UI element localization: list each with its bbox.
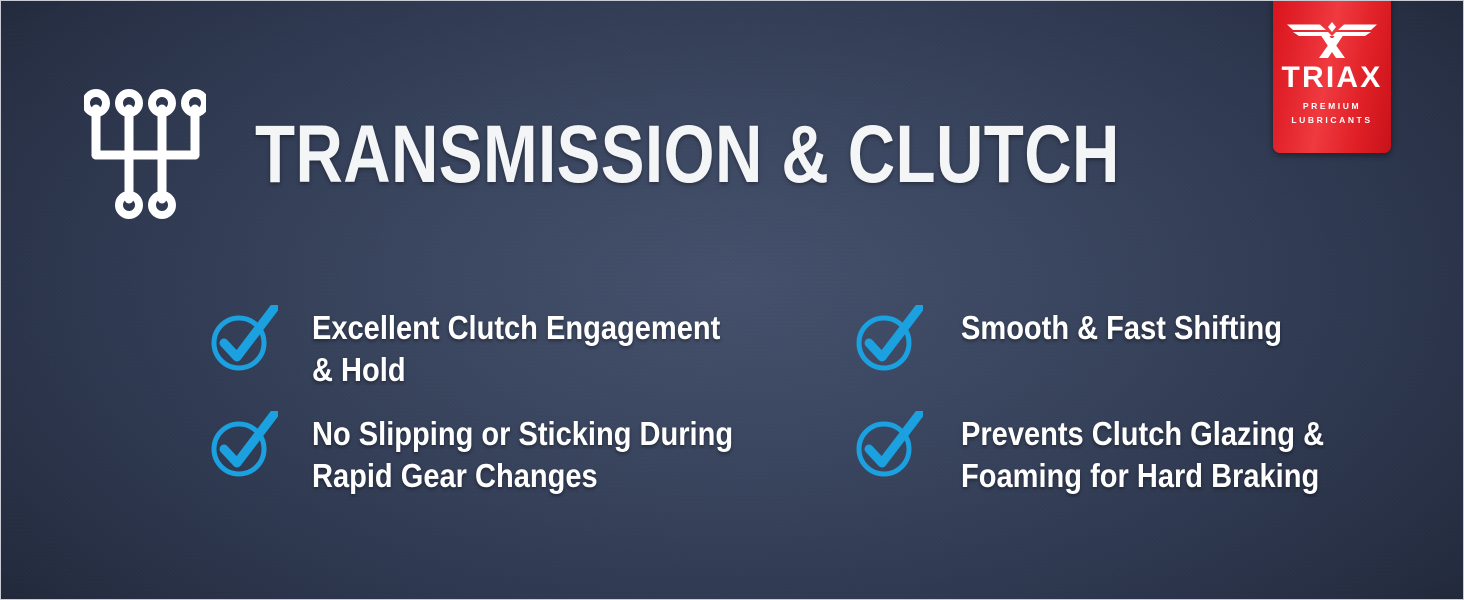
check-circle-icon [208,411,278,479]
banner-content: TRIAX PREMIUM LUBRICANTS [1,1,1463,599]
feature-item-no-slipping-or-sticking: No Slipping or Sticking During Rapid Gea… [208,409,808,497]
feature-item-excellent-clutch-engagement: Excellent Clutch Engagement & Hold [208,303,808,391]
check-circle-icon [208,305,278,373]
feature-label: No Slipping or Sticking During Rapid Gea… [312,409,748,497]
logo-tagline-premium: PREMIUM [1303,102,1361,111]
check-circle-icon [853,305,923,373]
page-title: TRANSMISSION & CLUTCH [255,114,1120,196]
transmission-clutch-banner: TRIAX PREMIUM LUBRICANTS [0,0,1464,600]
feature-item-prevents-clutch-glazing: Prevents Clutch Glazing & Foaming for Ha… [853,409,1413,497]
check-circle-icon [853,411,923,479]
feature-item-smooth-fast-shifting: Smooth & Fast Shifting [853,303,1413,373]
feature-label: Excellent Clutch Engagement & Hold [312,303,748,391]
eagle-emblem-icon [1286,17,1378,59]
logo-tagline-lubricants: LUBRICANTS [1291,116,1372,125]
triax-logo-badge[interactable]: TRIAX PREMIUM LUBRICANTS [1273,0,1391,153]
feature-label: Prevents Clutch Glazing & Foaming for Ha… [961,409,1359,497]
gear-shift-pattern-icon [84,89,206,219]
feature-label: Smooth & Fast Shifting [961,303,1282,349]
logo-wordmark: TRIAX [1282,63,1383,93]
